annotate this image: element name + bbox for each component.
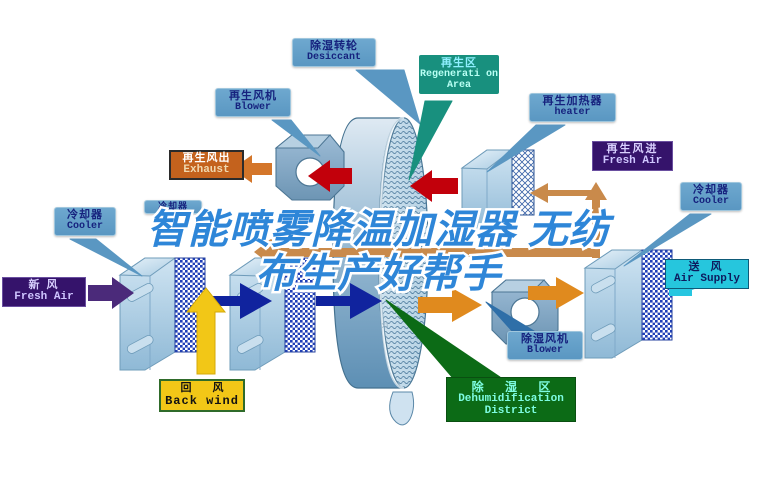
- callout-dehumidification-district[interactable]: 除 湿 区 Dehumidification District: [446, 377, 576, 422]
- svg-text:xr: xr: [381, 319, 390, 330]
- callout-dehumidification-blower[interactable]: 除湿风机 Blower: [507, 331, 583, 360]
- process-orange-arrow-1: [418, 288, 482, 322]
- callout-regeneration-heater-en: heater: [530, 108, 615, 119]
- cooler-unit-left: [120, 258, 205, 370]
- callout-regeneration-area-en: Regenerati on Area: [419, 70, 499, 92]
- callout-desiccant-wheel[interactable]: 除湿转轮 Desiccant: [292, 38, 376, 67]
- callout-cooler-right-en: Cooler: [681, 197, 741, 208]
- callout-exhaust-en: Exhaust: [171, 165, 242, 177]
- callout-regen-fresh-air-en: Fresh Air: [593, 156, 672, 168]
- callout-fresh-air-in-en: Fresh Air: [3, 292, 85, 304]
- callout-back-wind-en: Back wind: [161, 395, 243, 408]
- callout-regeneration-area[interactable]: 再生区 Regenerati on Area: [419, 55, 499, 94]
- callout-air-supply-en: Air Supply: [666, 274, 748, 286]
- callout-air-supply[interactable]: 送 风 Air Supply: [665, 259, 749, 289]
- callout-regeneration-fresh-air-in[interactable]: 再生风进 Fresh Air: [592, 141, 673, 171]
- callout-regeneration-blower[interactable]: 再生风机 Blower: [215, 88, 291, 117]
- callout-dehum-district-en: Dehumidification District: [447, 394, 575, 418]
- dehumidifier-schematic: xr: [0, 0, 757, 488]
- callout-cooler-mid[interactable]: 冷却器: [144, 200, 202, 214]
- callout-back-wind[interactable]: 回 风 Back wind: [159, 379, 245, 412]
- callout-dehum-blower-en: Blower: [508, 346, 582, 357]
- callout-cooler-left-en: Cooler: [55, 222, 115, 233]
- callout-dehum-district-cn: 除 湿 区: [447, 381, 575, 394]
- callout-regeneration-blower-en: Blower: [216, 103, 290, 114]
- diagram-canvas: xr: [0, 0, 757, 488]
- callout-cooler-left[interactable]: 冷却器 Cooler: [54, 207, 116, 236]
- callout-cooler-right[interactable]: 冷却器 Cooler: [680, 182, 742, 211]
- cooler-unit-right: [585, 250, 672, 358]
- callout-cooler-mid-cn: 冷却器: [145, 202, 201, 212]
- callout-exhaust[interactable]: 再生风出 Exhaust: [169, 150, 244, 180]
- callout-fresh-air-in[interactable]: 新 风 Fresh Air: [2, 277, 86, 307]
- callout-regeneration-heater[interactable]: 再生加热器 heater: [529, 93, 616, 122]
- callout-desiccant-wheel-en: Desiccant: [293, 53, 375, 64]
